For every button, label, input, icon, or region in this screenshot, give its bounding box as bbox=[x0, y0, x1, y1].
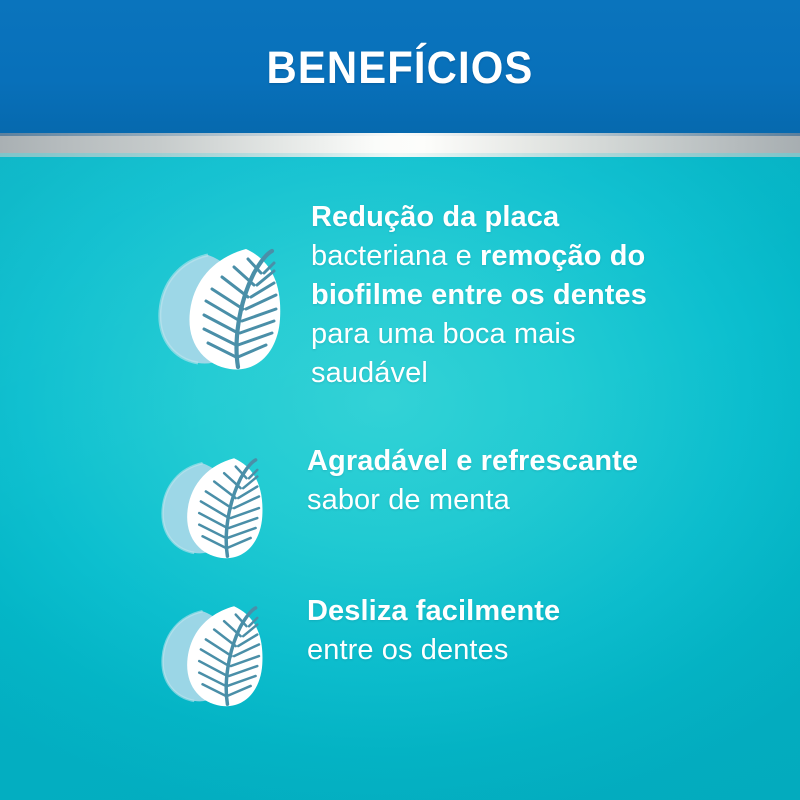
mint-leaf-pair-icon bbox=[150, 598, 275, 710]
benefit-item: Redução da placa bacteriana e remoção do… bbox=[150, 196, 690, 393]
mint-leaf-pair-icon bbox=[150, 239, 290, 374]
benefit-text: Redução da placa bacteriana e remoção do… bbox=[290, 196, 690, 393]
mint-leaf-pair-icon bbox=[150, 450, 275, 562]
page-title: BENEFÍCIOS bbox=[28, 42, 772, 94]
benefit-subline: entre os dentes bbox=[307, 631, 710, 670]
silver-divider bbox=[0, 133, 800, 157]
benefit-segment-regular: bacteriana e bbox=[311, 240, 480, 272]
benefit-subline: sabor de menta bbox=[307, 481, 710, 520]
benefit-headline: Agradável e refrescante bbox=[307, 442, 710, 481]
benefit-text: Desliza facilmente entre os dentes bbox=[275, 590, 710, 670]
benefit-item: Desliza facilmente entre os dentes bbox=[150, 590, 710, 710]
benefit-item: Agradável e refrescante sabor de menta bbox=[150, 440, 710, 562]
header-band: BENEFÍCIOS bbox=[0, 0, 800, 133]
benefit-segment-regular: para uma boca mais saudável bbox=[311, 318, 576, 389]
benefit-headline: Desliza facilmente bbox=[307, 592, 710, 631]
benefits-infographic: BENEFÍCIOS bbox=[0, 0, 800, 800]
benefit-segment-bold: Redução da placa bbox=[311, 201, 559, 233]
benefit-text: Agradável e refrescante sabor de menta bbox=[275, 440, 710, 520]
